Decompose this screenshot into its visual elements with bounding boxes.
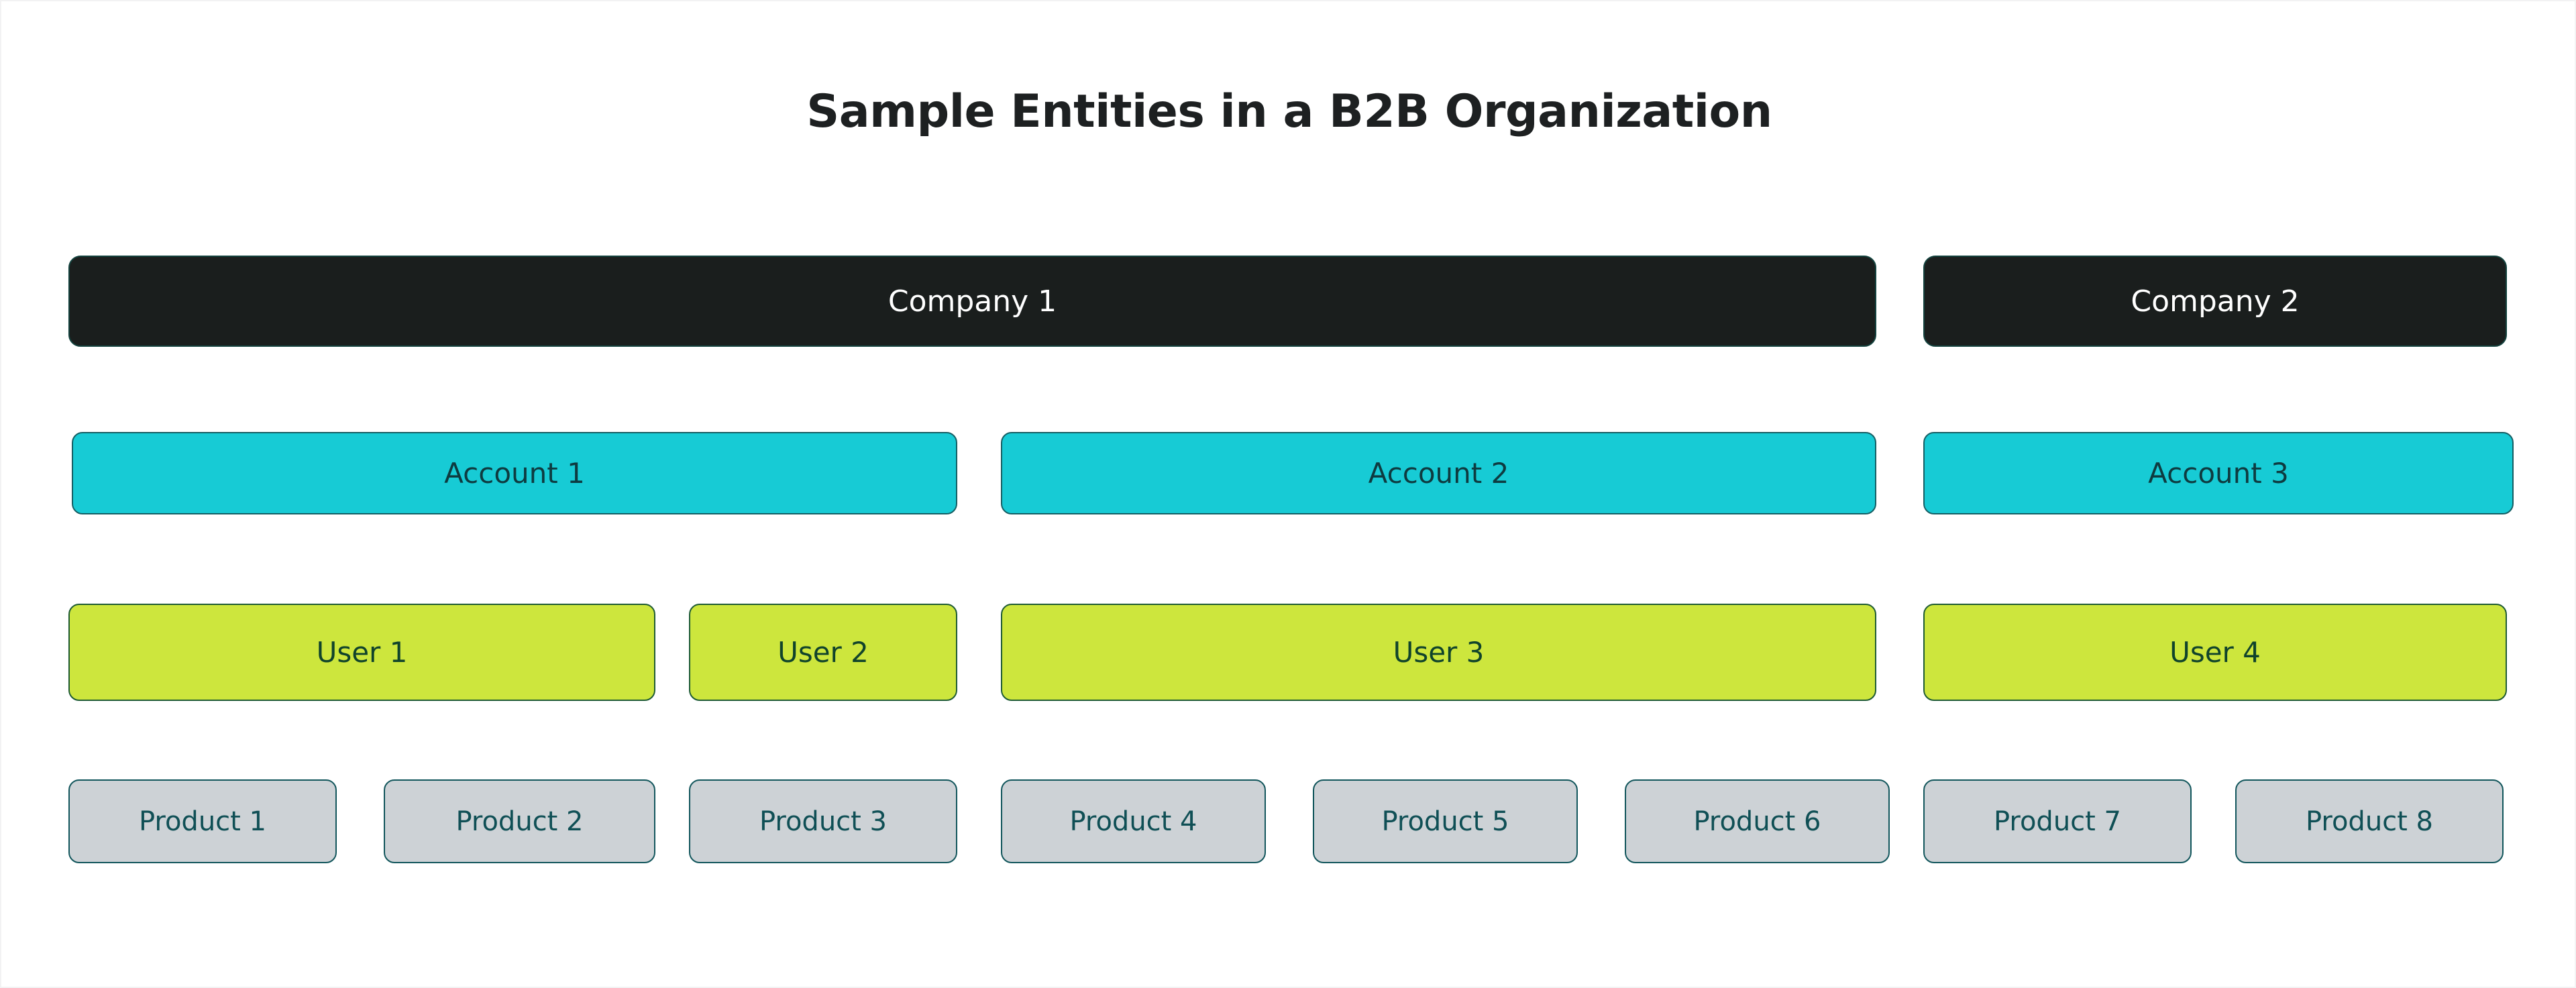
product-node-label: Product 7 <box>1994 806 2121 837</box>
product-node-label: Product 6 <box>1693 806 1821 837</box>
product-tier-row: Product 1 Product 2 Product 3 Product 4 … <box>1 779 2576 865</box>
company-node-label: Company 1 <box>888 284 1057 319</box>
diagram-canvas: Sample Entities in a B2B Organization Co… <box>0 0 2576 988</box>
product-node[interactable]: Product 6 <box>1625 779 1890 863</box>
product-node-label: Product 2 <box>455 806 583 837</box>
user-node[interactable]: User 1 <box>68 604 655 701</box>
user-node[interactable]: User 2 <box>689 604 957 701</box>
product-node[interactable]: Product 2 <box>384 779 655 863</box>
user-node-label: User 3 <box>1393 636 1485 669</box>
account-node-label: Account 3 <box>2148 457 2289 490</box>
company-node[interactable]: Company 1 <box>68 256 1876 347</box>
user-node[interactable]: User 3 <box>1001 604 1876 701</box>
product-node-label: Product 5 <box>1381 806 1509 837</box>
user-node[interactable]: User 4 <box>1923 604 2507 701</box>
product-node[interactable]: Product 8 <box>2235 779 2504 863</box>
account-tier-row: Account 1 Account 2 Account 3 <box>1 432 2576 516</box>
product-node[interactable]: Product 1 <box>68 779 337 863</box>
product-node-label: Product 4 <box>1069 806 1197 837</box>
user-node-label: User 2 <box>777 636 869 669</box>
account-node[interactable]: Account 2 <box>1001 432 1876 514</box>
product-node-label: Product 8 <box>2306 806 2433 837</box>
account-node-label: Account 2 <box>1368 457 1509 490</box>
user-node-label: User 1 <box>317 636 408 669</box>
product-node-label: Product 3 <box>759 806 887 837</box>
product-node[interactable]: Product 5 <box>1313 779 1578 863</box>
account-node[interactable]: Account 3 <box>1923 432 2514 514</box>
product-node[interactable]: Product 3 <box>689 779 957 863</box>
user-node-label: User 4 <box>2169 636 2261 669</box>
product-node[interactable]: Product 7 <box>1923 779 2192 863</box>
product-node[interactable]: Product 4 <box>1001 779 1266 863</box>
company-tier-row: Company 1 Company 2 <box>1 256 2576 349</box>
user-tier-row: User 1 User 2 User 3 User 4 <box>1 604 2576 704</box>
company-node-label: Company 2 <box>2131 284 2299 319</box>
page-title: Sample Entities in a B2B Organization <box>1 87 2576 138</box>
account-node-label: Account 1 <box>444 457 585 490</box>
company-node[interactable]: Company 2 <box>1923 256 2507 347</box>
account-node[interactable]: Account 1 <box>72 432 957 514</box>
product-node-label: Product 1 <box>139 806 266 837</box>
